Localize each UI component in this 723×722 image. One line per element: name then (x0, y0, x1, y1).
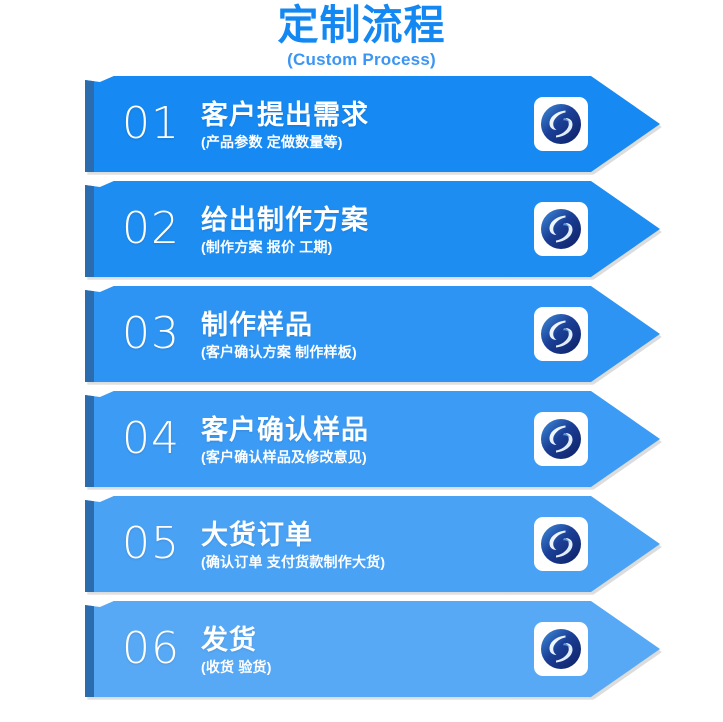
step-text-block: 客户确认样品 (客户确认样品及修改意见) (195, 414, 534, 467)
step-content: 03 制作样品 (客户确认方案 制作样板) (85, 286, 660, 382)
step-number: 02 (107, 206, 195, 252)
step-content: 02 给出制作方案 (制作方案 报价 工期) (85, 181, 660, 277)
company-logo-icon (534, 307, 588, 361)
company-logo-icon (534, 517, 588, 571)
step-title: 大货订单 (201, 519, 534, 551)
process-step-06[interactable]: 06 发货 (收货 验货) (85, 601, 660, 697)
process-step-01[interactable]: 01 客户提出需求 (产品参数 定做数量等) (85, 76, 660, 172)
step-text-block: 发货 (收货 验货) (195, 624, 534, 677)
step-title: 客户提出需求 (201, 99, 534, 131)
process-step-04[interactable]: 04 客户确认样品 (客户确认样品及修改意见) (85, 391, 660, 487)
step-text-block: 制作样品 (客户确认方案 制作样板) (195, 309, 534, 362)
step-subtitle: (确认订单 支付货款制作大货) (201, 552, 534, 572)
step-number: 05 (107, 521, 195, 567)
company-logo-icon (534, 622, 588, 676)
process-step-list: 01 客户提出需求 (产品参数 定做数量等) (0, 76, 723, 697)
step-subtitle: (客户确认样品及修改意见) (201, 447, 534, 467)
page-subtitle: (Custom Process) (0, 49, 723, 71)
step-content: 01 客户提出需求 (产品参数 定做数量等) (85, 76, 660, 172)
step-subtitle: (收货 验货) (201, 657, 534, 677)
step-number: 01 (107, 101, 195, 147)
step-content: 05 大货订单 (确认订单 支付货款制作大货) (85, 496, 660, 592)
step-subtitle: (制作方案 报价 工期) (201, 237, 534, 257)
step-content: 04 客户确认样品 (客户确认样品及修改意见) (85, 391, 660, 487)
page-title: 定制流程 (0, 2, 723, 48)
step-title: 给出制作方案 (201, 204, 534, 236)
process-step-02[interactable]: 02 给出制作方案 (制作方案 报价 工期) (85, 181, 660, 277)
step-title: 制作样品 (201, 309, 534, 341)
step-text-block: 给出制作方案 (制作方案 报价 工期) (195, 204, 534, 257)
step-text-block: 大货订单 (确认订单 支付货款制作大货) (195, 519, 534, 572)
process-step-03[interactable]: 03 制作样品 (客户确认方案 制作样板) (85, 286, 660, 382)
process-step-05[interactable]: 05 大货订单 (确认订单 支付货款制作大货) (85, 496, 660, 592)
step-title: 发货 (201, 624, 534, 656)
page-header: 定制流程 (Custom Process) (0, 0, 723, 71)
company-logo-icon (534, 202, 588, 256)
step-subtitle: (客户确认方案 制作样板) (201, 342, 534, 362)
company-logo-icon (534, 97, 588, 151)
step-text-block: 客户提出需求 (产品参数 定做数量等) (195, 99, 534, 152)
step-number: 04 (107, 416, 195, 462)
step-content: 06 发货 (收货 验货) (85, 601, 660, 697)
step-number: 03 (107, 311, 195, 357)
step-title: 客户确认样品 (201, 414, 534, 446)
step-subtitle: (产品参数 定做数量等) (201, 132, 534, 152)
company-logo-icon (534, 412, 588, 466)
step-number: 06 (107, 626, 195, 672)
